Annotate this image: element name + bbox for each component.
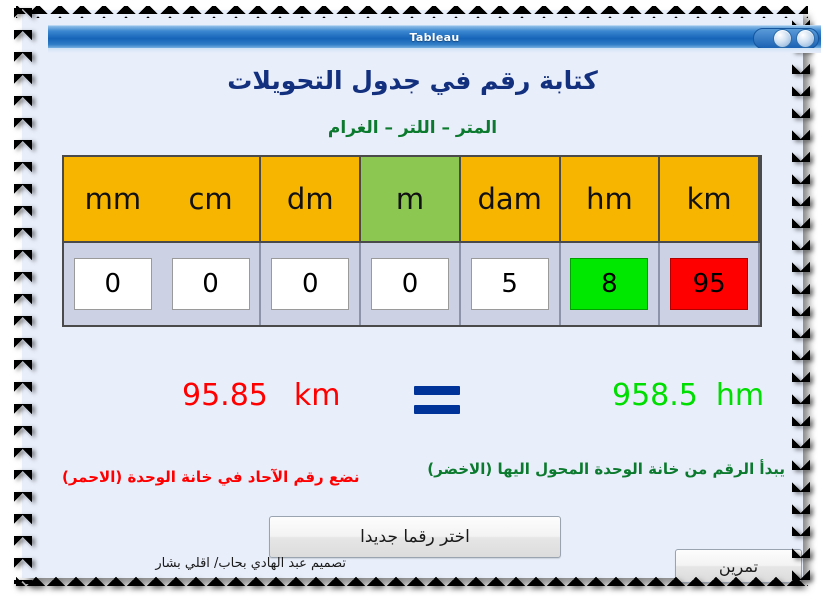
value-cell-km[interactable]: 95 [660,243,760,325]
equals-bar-top [414,386,460,395]
equation-right: 958.5 hm [612,378,764,413]
value-cell-mm[interactable]: 0 [64,243,162,325]
equation-right-unit: hm [716,378,764,413]
paper-card: Tableau كتابة رقم في جدول التحويلات المت… [22,10,803,578]
unit-header-dm[interactable]: dm [261,157,361,241]
credit-text: تصميم عبد الهادي بحاب/ اقلي بشار [46,556,346,571]
value-cell-hm[interactable]: 8 [561,243,661,325]
equation-left-value: 95.85 [182,378,268,413]
exercise-button[interactable]: تمرين [675,549,802,583]
unit-header-cm[interactable]: cm [162,157,262,241]
value-input-mm[interactable]: 0 [74,258,152,310]
table-value-row: 95 8 5 0 0 0 0 [64,241,760,325]
page-title: كتابة رقم في جدول التحويلات [22,66,803,95]
equation-row: 95.85 km 958.5 hm [62,378,762,426]
app-window: Tableau كتابة رقم في جدول التحويلات المت… [0,0,825,606]
equation-right-value: 958.5 [612,378,698,413]
value-cell-dam[interactable]: 5 [461,243,561,325]
minimize-icon[interactable] [796,29,815,48]
equation-left: 95.85 km [182,378,341,413]
value-input-hm[interactable]: 8 [570,258,648,310]
hint-target-unit: يبدأ الرقم من خانة الوحدة المحول اليها (… [427,460,785,478]
window-title: Tableau [410,31,460,44]
unit-header-mm[interactable]: mm [64,157,162,241]
titlebar-underline [48,48,821,53]
page-subtitle: المتر – اللتر – الغرام [22,118,803,138]
value-input-cm[interactable]: 0 [172,258,250,310]
value-input-km[interactable]: 95 [670,258,748,310]
hint-ones-digit: نضع رقم الآحاد في خانة الوحدة (الاحمر) [62,468,360,486]
equals-bar-bottom [414,405,460,414]
equals-icon [414,386,460,414]
equation-left-unit: km [294,378,341,413]
value-cell-cm[interactable]: 0 [162,243,262,325]
unit-header-m[interactable]: m [361,157,461,241]
value-input-dm[interactable]: 0 [271,258,349,310]
close-icon[interactable] [773,29,792,48]
window-controls[interactable] [773,29,815,48]
value-input-dam[interactable]: 5 [471,258,549,310]
window-titlebar: Tableau [48,25,821,49]
value-cell-dm[interactable]: 0 [261,243,361,325]
conversion-table: km hm dam m dm cm mm 95 8 5 0 [62,155,762,327]
new-number-button[interactable]: اختر رقما جديدا [269,516,561,558]
unit-header-km[interactable]: km [660,157,760,241]
table-header-row: km hm dam m dm cm mm [64,157,760,241]
unit-header-dam[interactable]: dam [461,157,561,241]
value-input-m[interactable]: 0 [371,258,449,310]
value-cell-m[interactable]: 0 [361,243,461,325]
unit-header-hm[interactable]: hm [561,157,661,241]
